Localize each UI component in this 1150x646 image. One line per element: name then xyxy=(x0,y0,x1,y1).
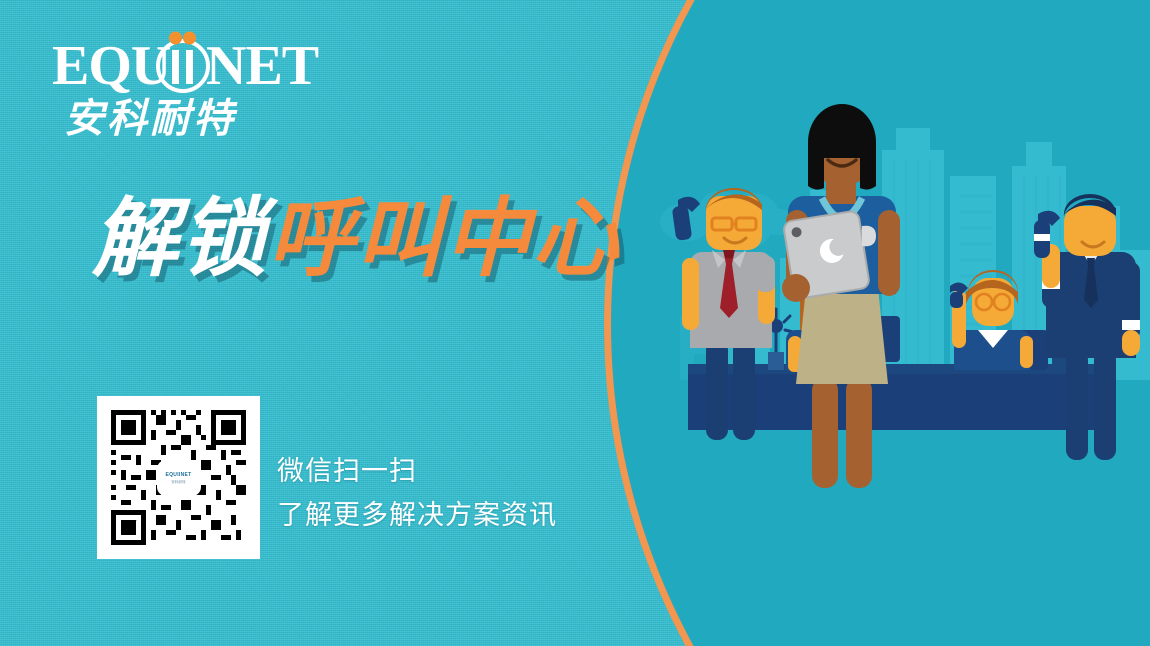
headline-orange: 呼叫中心 xyxy=(268,189,620,289)
qr-code[interactable]: EQUIINET 安科耐特 xyxy=(97,396,260,559)
promo-banner: EQU NET 安科耐特 解锁呼叫中心 xyxy=(0,0,1150,646)
headline: 解锁呼叫中心 xyxy=(92,196,620,282)
smiley-dot-right xyxy=(183,32,196,45)
brand-logo: EQU NET 安科耐特 xyxy=(52,28,352,138)
qr-logo-line1: EQUIINET xyxy=(165,472,191,478)
brand-chinese-name: 安科耐特 xyxy=(64,96,238,138)
headline-white: 解锁 xyxy=(92,189,268,289)
caption-line-2: 了解更多解决方案资讯 xyxy=(277,494,557,538)
caption-line-1: 微信扫一扫 xyxy=(277,450,557,494)
qr-caption: 微信扫一扫 了解更多解决方案资讯 xyxy=(277,450,557,537)
qr-center-logo: EQUIINET 安科耐特 xyxy=(159,462,199,494)
wordmark-part2: NET xyxy=(206,35,319,97)
wordmark-part1: EQU xyxy=(52,35,171,97)
smiley-dot-left xyxy=(169,32,182,45)
letter-i-1 xyxy=(172,50,179,84)
letter-i-2 xyxy=(186,50,193,84)
qr-canvas: EQUIINET 安科耐特 xyxy=(106,405,251,550)
illustration xyxy=(620,0,1150,646)
qr-logo-line2: 安科耐特 xyxy=(171,479,185,484)
